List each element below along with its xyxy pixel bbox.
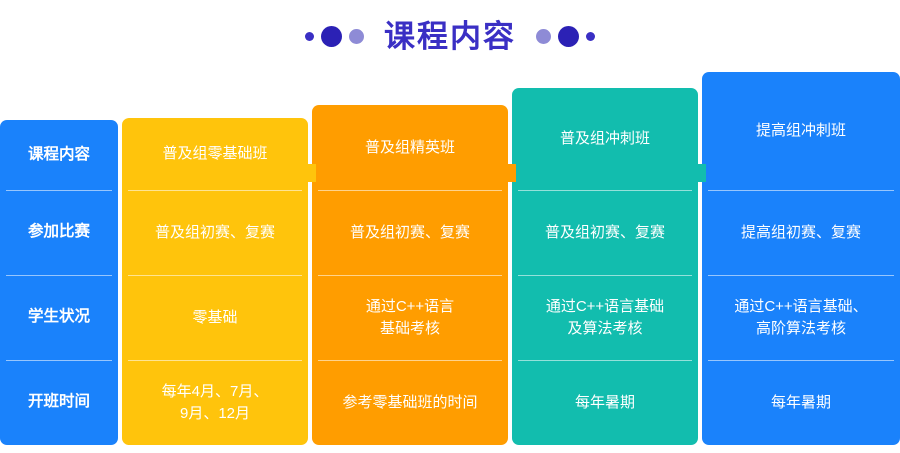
column-header-advanced: 提高组冲刺班: [702, 72, 900, 190]
row-divider: [518, 190, 692, 191]
column-tigao-sprint[interactable]: 提高组冲刺班提高组初赛、复赛通过C++语言基础、高阶算法考核每年暑期: [702, 72, 900, 445]
table-cell: 零基础: [122, 275, 308, 360]
column-puji-sprint[interactable]: 普及组冲刺班普及组初赛、复赛通过C++语言基础及算法考核每年暑期: [512, 88, 698, 445]
table-cell: 开班时间: [0, 360, 118, 445]
column-header-elite: 普及组精英班: [312, 105, 508, 190]
table-cell: 通过C++语言基础及算法考核: [512, 275, 698, 360]
column-header-label: 课程内容: [0, 120, 118, 190]
table-cell: 参考零基础班的时间: [312, 360, 508, 445]
dot-large-dark-icon: [321, 26, 342, 47]
table-cell: 每年4月、7月、9月、12月: [122, 360, 308, 445]
table-cell: 普及组初赛、复赛: [512, 190, 698, 275]
dot-small-dark-icon: [305, 32, 314, 41]
table-cell: 每年暑期: [702, 360, 900, 445]
dot-small-dark-icon: [586, 32, 595, 41]
row-divider: [318, 360, 502, 361]
row-divider: [128, 190, 302, 191]
dot-large-dark-icon: [558, 26, 579, 47]
row-divider: [518, 275, 692, 276]
row-divider: [318, 190, 502, 191]
row-label-column[interactable]: 课程内容参加比赛学生状况开班时间: [0, 120, 118, 445]
table-cell: 每年暑期: [512, 360, 698, 445]
row-divider: [128, 275, 302, 276]
column-header-sprint: 普及组冲刺班: [512, 88, 698, 190]
table-cell: 通过C++语言基础考核: [312, 275, 508, 360]
dot-medium-light-icon: [536, 29, 551, 44]
row-divider: [708, 360, 894, 361]
column-puji-zero-basic[interactable]: 普及组零基础班普及组初赛、复赛零基础每年4月、7月、9月、12月: [122, 118, 308, 445]
column-arrow-notch-icon: [307, 164, 316, 182]
row-divider: [128, 360, 302, 361]
column-arrow-notch-icon: [507, 164, 516, 182]
column-puji-elite[interactable]: 普及组精英班普及组初赛、复赛通过C++语言基础考核参考零基础班的时间: [312, 105, 508, 445]
table-cell: 提高组初赛、复赛: [702, 190, 900, 275]
row-divider: [318, 275, 502, 276]
row-divider: [6, 275, 112, 276]
decor-dots-left: [305, 26, 364, 47]
table-cell: 参加比赛: [0, 190, 118, 275]
column-arrow-notch-icon: [697, 164, 706, 182]
table-cell: 通过C++语言基础、高阶算法考核: [702, 275, 900, 360]
decor-dots-right: [536, 26, 595, 47]
row-divider: [6, 190, 112, 191]
row-divider: [6, 360, 112, 361]
course-comparison-table: 课程内容参加比赛学生状况开班时间普及组零基础班普及组初赛、复赛零基础每年4月、7…: [0, 66, 900, 453]
table-cell: 普及组初赛、复赛: [312, 190, 508, 275]
row-divider: [708, 275, 894, 276]
page-title: 课程内容: [380, 21, 520, 52]
table-cell: 学生状况: [0, 275, 118, 360]
table-cell: 普及组初赛、复赛: [122, 190, 308, 275]
page-header: 课程内容: [0, 0, 900, 72]
dot-medium-light-icon: [349, 29, 364, 44]
row-divider: [518, 360, 692, 361]
row-divider: [708, 190, 894, 191]
column-header-basic: 普及组零基础班: [122, 118, 308, 190]
